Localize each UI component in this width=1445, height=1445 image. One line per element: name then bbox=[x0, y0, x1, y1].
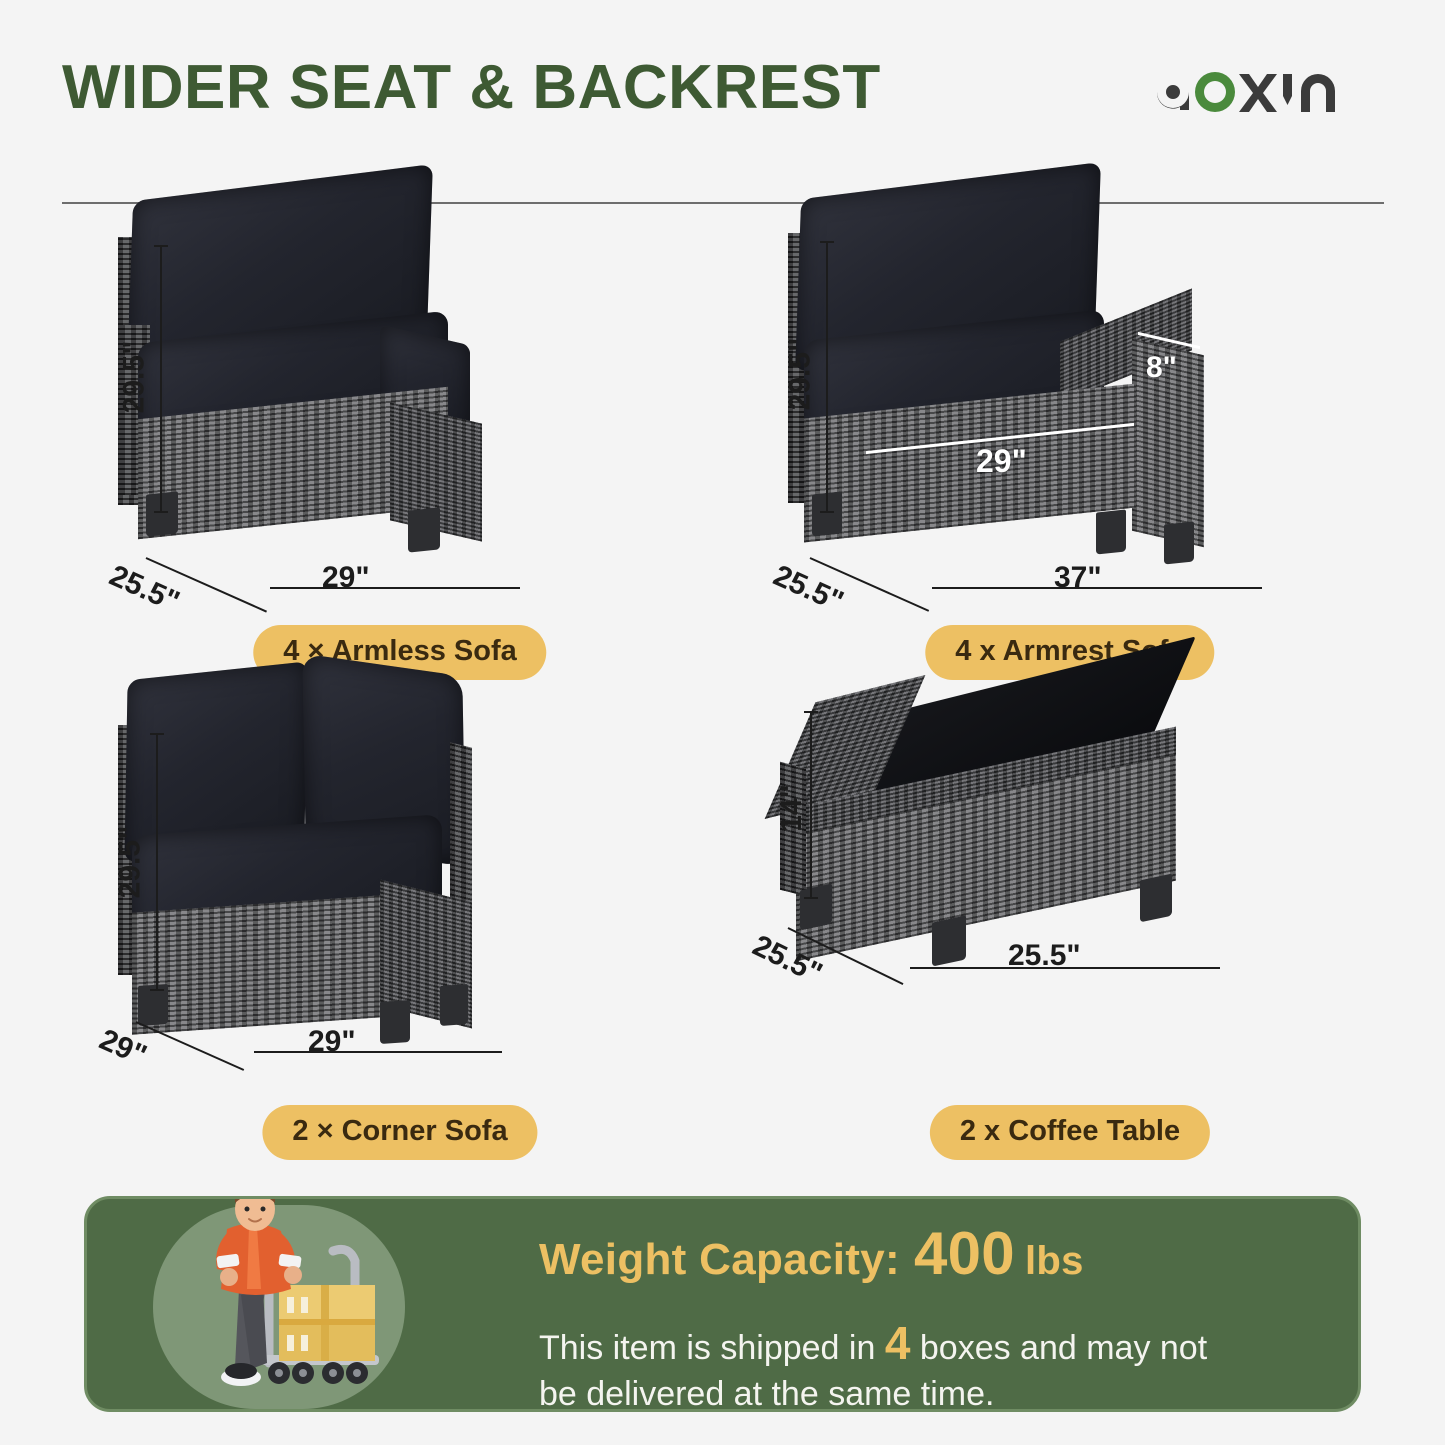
product-card-armless-sofa: 29.5" 25.5" 29" 4 × Armless Sofa bbox=[90, 175, 710, 675]
shipping-prefix: This item is shipped in bbox=[539, 1329, 875, 1367]
dim-table-width: 25.5" bbox=[1008, 939, 1081, 973]
product-grid: 29.5" 25.5" 29" 4 × Armless Sofa bbox=[0, 175, 1445, 1175]
dim-armrest-height: 29.5" bbox=[783, 338, 817, 411]
coffee-table-illustration: 14" 25.5" 25.5" bbox=[760, 655, 1380, 1055]
weight-capacity-line: Weight Capacity:400lbs bbox=[539, 1219, 1339, 1288]
delivery-worker-icon bbox=[183, 1196, 413, 1412]
page-title: WIDER SEAT & BACKREST bbox=[62, 52, 881, 123]
shipping-banner: Weight Capacity:400lbs This item is ship… bbox=[84, 1196, 1361, 1412]
armrest-sofa-illustration: 29.5" 8" 29" 25.5" 37" bbox=[760, 175, 1380, 575]
banner-text-block: Weight Capacity:400lbs This item is ship… bbox=[539, 1219, 1339, 1412]
corner-sofa-illustration: 29.5" 29" 29" bbox=[90, 655, 710, 1055]
label-coffee-table: 2 x Coffee Table bbox=[930, 1105, 1210, 1160]
brand-logo bbox=[1143, 62, 1383, 124]
dim-corner-width: 29" bbox=[308, 1025, 356, 1059]
dim-armless-width: 29" bbox=[322, 561, 370, 595]
box-count: 4 bbox=[885, 1317, 911, 1369]
dim-armless-height: 29.5" bbox=[117, 341, 151, 414]
product-card-corner-sofa: 29.5" 29" 29" 2 × Corner Sofa bbox=[90, 655, 710, 1155]
label-corner-sofa: 2 × Corner Sofa bbox=[262, 1105, 537, 1160]
header: WIDER SEAT & BACKREST bbox=[0, 52, 1445, 152]
weight-capacity-label: Weight Capacity: bbox=[539, 1235, 900, 1284]
shipping-note: This item is shipped in 4 boxes and may … bbox=[539, 1314, 1339, 1412]
shipping-line2: be delivered at the same time. bbox=[539, 1375, 994, 1412]
dim-armrest-overall-width: 37" bbox=[1054, 561, 1102, 595]
weight-capacity-unit: lbs bbox=[1025, 1239, 1084, 1283]
product-card-armrest-sofa: 29.5" 8" 29" 25.5" 37" 4 x Armrest Sofa bbox=[760, 175, 1380, 675]
weight-capacity-value: 400 bbox=[914, 1220, 1015, 1287]
base-front-panel bbox=[132, 893, 410, 1034]
dim-armrest-seat-width: 29" bbox=[976, 443, 1027, 480]
shipping-suffix: boxes and may not bbox=[920, 1329, 1207, 1367]
product-card-coffee-table: 14" 25.5" 25.5" 2 x Coffee Table bbox=[760, 655, 1380, 1155]
armless-sofa-illustration: 29.5" 25.5" 29" bbox=[90, 175, 710, 575]
dim-corner-height: 29.5" bbox=[113, 826, 147, 899]
infographic-page: WIDER SEAT & BACKREST bbox=[0, 0, 1445, 1445]
dim-armrest-arm-width: 8" bbox=[1146, 351, 1177, 385]
dim-table-height: 14" bbox=[775, 784, 809, 832]
